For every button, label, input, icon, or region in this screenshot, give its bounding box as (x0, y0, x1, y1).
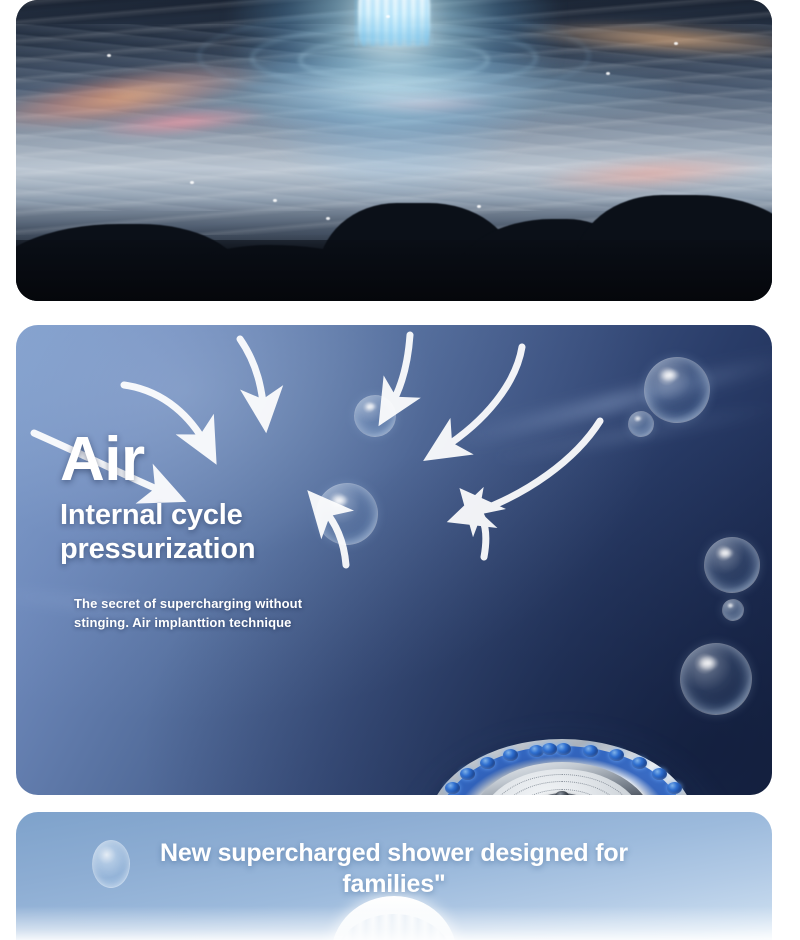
bubble-tiny-right (722, 599, 744, 621)
hero-image-panel (16, 0, 772, 301)
air-copy-block: Air Internal cycle pressurization The se… (60, 430, 302, 632)
air-headline: Air (60, 430, 302, 490)
banner-bottom-haze (16, 906, 772, 940)
product-feature-page: stop Air (0, 0, 800, 940)
air-description-line-1: The secret of supercharging without (74, 594, 302, 613)
bubble-right-mid (704, 537, 760, 593)
bubble-large-top-right (644, 357, 710, 423)
bubble-upper-mid (354, 395, 396, 437)
air-feature-panel: stop Air (16, 325, 772, 795)
bubble-left-mid (316, 483, 378, 545)
air-description: The secret of supercharging without stin… (74, 594, 302, 632)
shower-head-product: stop (412, 735, 712, 795)
air-subheadline-line-1: Internal cycle (60, 498, 302, 532)
bubble-right-lower (680, 643, 752, 715)
air-subheadline: Internal cycle pressurization (60, 498, 302, 566)
banner-tagline-line-1: New supercharged shower designed for (86, 838, 702, 869)
rock-silhouettes (16, 169, 772, 301)
tagline-banner-panel: New supercharged shower designed for fam… (16, 812, 772, 940)
rock-foreground-base (16, 240, 772, 301)
air-subheadline-line-2: pressurization (60, 532, 302, 566)
banner-tagline: New supercharged shower designed for fam… (16, 838, 772, 900)
air-description-line-2: stinging. Air implanttion technique (74, 613, 302, 632)
bubble-small-top-right (628, 411, 654, 437)
